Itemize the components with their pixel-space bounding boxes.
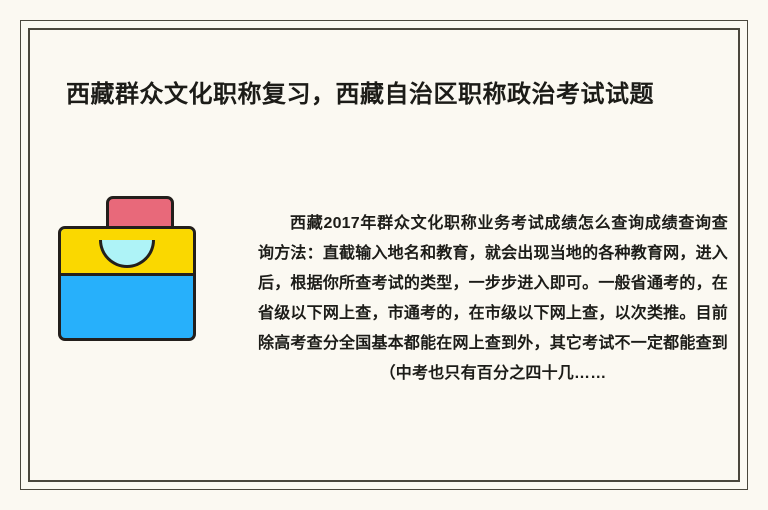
article-body-text: 西藏2017年群众文化职称业务考试成绩怎么查询成绩查询查询方法：直截输入地名和教… (258, 209, 728, 389)
article-page: 西藏群众文化职称复习，西藏自治区职称政治考试试题 西藏2017年群众文化职称业务… (0, 0, 768, 510)
page-title: 西藏群众文化职称复习，西藏自治区职称政治考试试题 (66, 78, 706, 112)
toolbox-illustration (58, 196, 196, 341)
